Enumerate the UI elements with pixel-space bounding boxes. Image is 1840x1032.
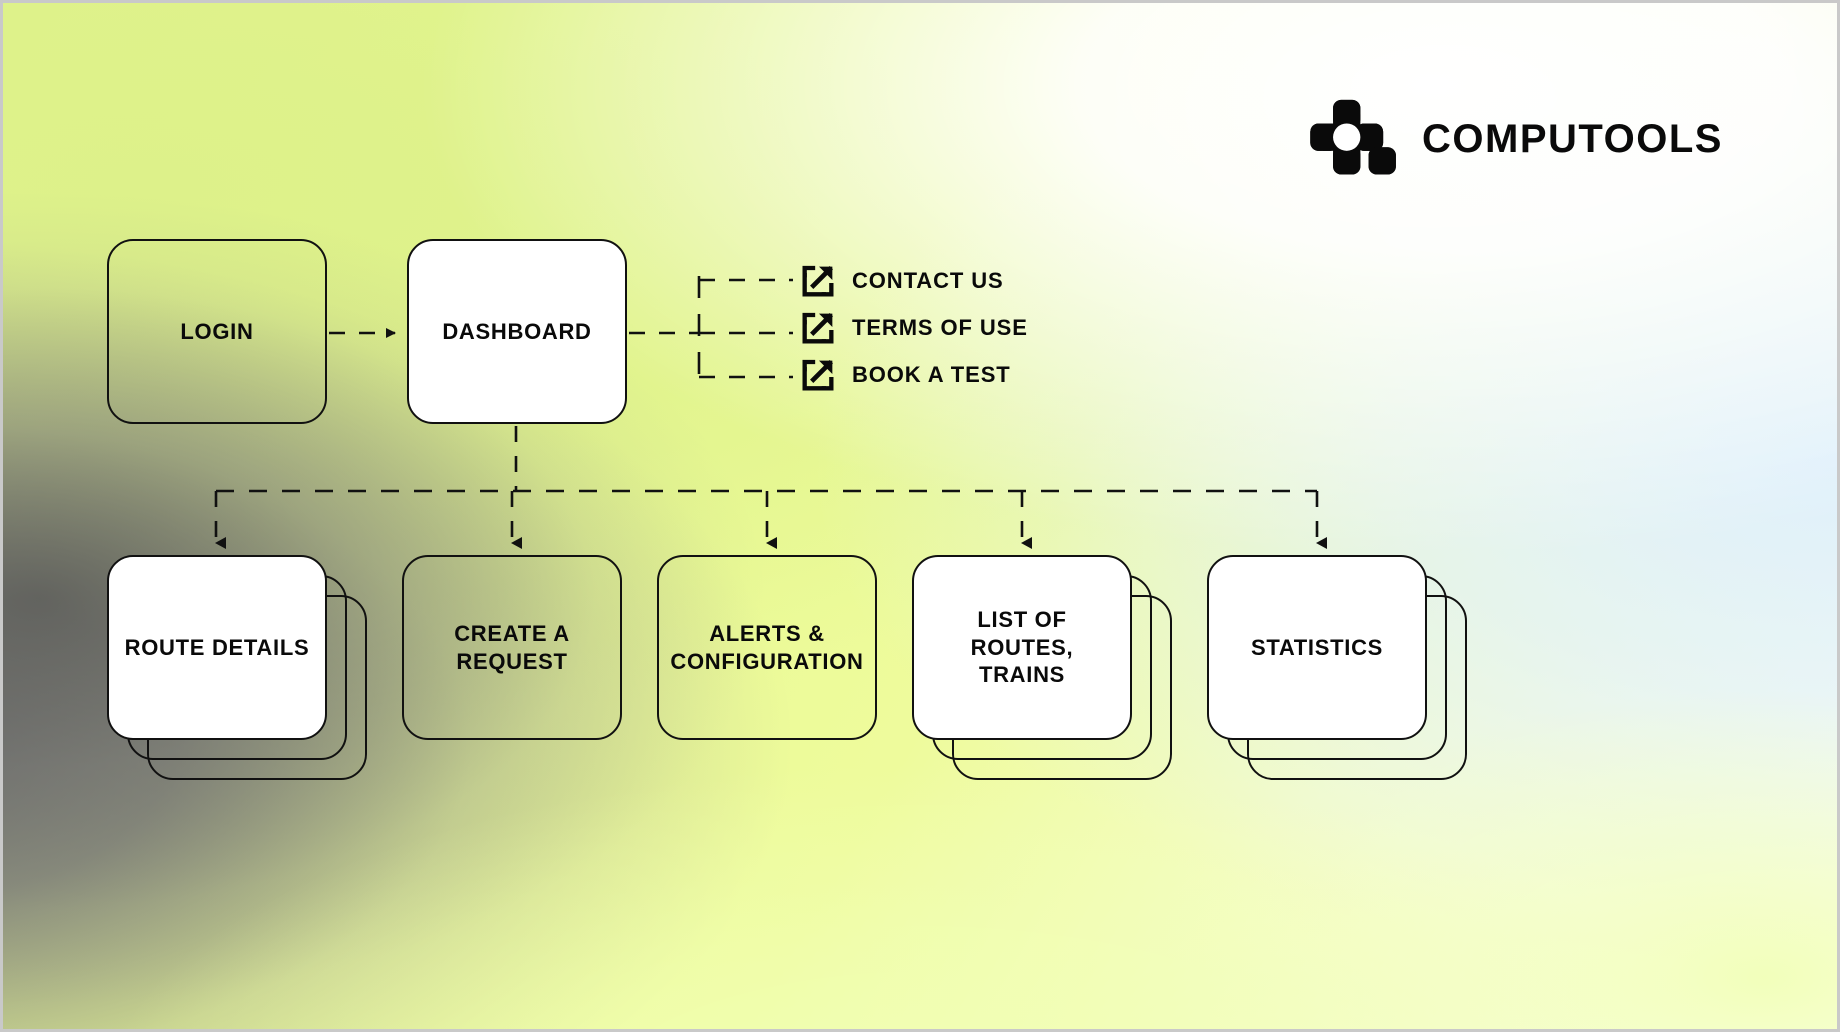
- node-create-request[interactable]: CREATE A REQUEST: [402, 555, 622, 740]
- diagram-canvas: COMPUTOOLS LOGIN DASHBOARD ROUTE DETAILS…: [0, 0, 1840, 1032]
- external-link-icon: [798, 355, 838, 395]
- node-routes-trains-label: LIST OF ROUTES, TRAINS: [928, 606, 1116, 689]
- node-login-label: LOGIN: [180, 318, 253, 346]
- node-route-details[interactable]: ROUTE DETAILS: [107, 555, 327, 740]
- external-link-contact-us-label: CONTACT US: [852, 268, 1004, 294]
- node-statistics[interactable]: STATISTICS: [1207, 555, 1427, 740]
- node-dashboard[interactable]: DASHBOARD: [407, 239, 627, 424]
- external-link-terms-of-use-label: TERMS OF USE: [852, 315, 1028, 341]
- brand-logo: COMPUTOOLS: [1308, 98, 1723, 180]
- external-link-contact-us[interactable]: CONTACT US: [798, 261, 1004, 301]
- node-create-request-label: CREATE A REQUEST: [418, 620, 606, 675]
- node-routes-trains[interactable]: LIST OF ROUTES, TRAINS: [912, 555, 1132, 740]
- external-link-icon: [798, 308, 838, 348]
- external-link-book-a-test[interactable]: BOOK A TEST: [798, 355, 1011, 395]
- brand-wordmark: COMPUTOOLS: [1422, 117, 1723, 162]
- node-statistics-label: STATISTICS: [1251, 634, 1383, 662]
- external-link-book-a-test-label: BOOK A TEST: [852, 362, 1011, 388]
- node-alerts-configuration[interactable]: ALERTS & CONFIGURATION: [657, 555, 877, 740]
- node-alerts-configuration-label: ALERTS & CONFIGURATION: [670, 620, 863, 675]
- node-route-details-label: ROUTE DETAILS: [125, 634, 310, 662]
- node-login[interactable]: LOGIN: [107, 239, 327, 424]
- external-link-terms-of-use[interactable]: TERMS OF USE: [798, 308, 1028, 348]
- node-dashboard-label: DASHBOARD: [442, 318, 591, 346]
- external-link-icon: [798, 261, 838, 301]
- computools-blocks-icon: [1308, 98, 1400, 180]
